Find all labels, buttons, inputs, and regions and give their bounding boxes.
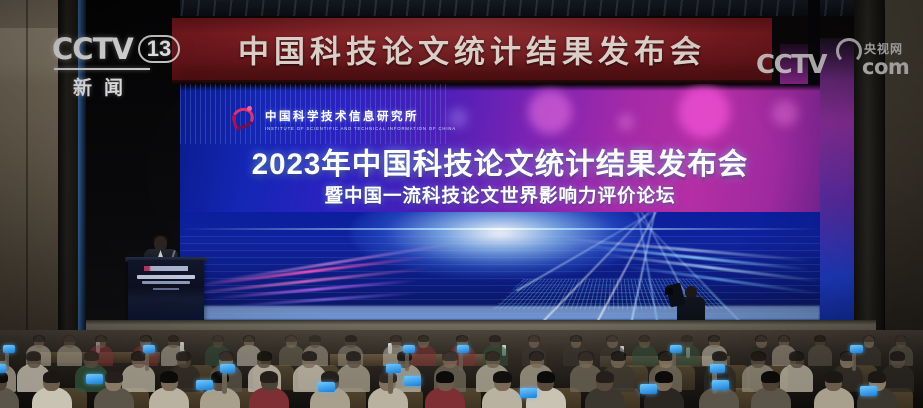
audience-hair — [390, 335, 402, 342]
audience-hair — [285, 335, 297, 342]
audience-shoulders — [279, 345, 304, 366]
stage-shadow — [86, 320, 876, 325]
cctv-wordmark: CCTV — [52, 32, 133, 66]
watermark-ring-icon — [836, 38, 862, 64]
smartphone-screen — [860, 386, 877, 396]
audience-hair — [814, 335, 826, 342]
led-bottom-glow — [180, 306, 820, 320]
audience-hair — [761, 371, 779, 383]
institute-logo-block: 中国科学技术信息研究所 INSTITUTE OF SCIENTIFIC AND … — [228, 106, 456, 132]
audience-hair — [712, 351, 727, 361]
smartphone-screen — [386, 364, 401, 373]
audience-hair — [655, 371, 673, 383]
audience-hair — [321, 371, 339, 383]
audience-hair — [176, 351, 191, 361]
channel-number: 13 — [138, 35, 180, 63]
smartphone-screen — [220, 364, 235, 373]
raised-arm — [459, 353, 463, 371]
smartphone-screen — [403, 345, 415, 352]
institute-name-en: INSTITUTE OF SCIENTIFIC AND TECHNICAL IN… — [265, 126, 456, 131]
audience-hair — [346, 351, 361, 361]
raised-arm — [222, 372, 227, 394]
audience-shoulders — [57, 345, 82, 366]
audience-hair — [212, 335, 224, 342]
bokeh-light — [528, 90, 572, 134]
podium-mini-subtitle — [142, 281, 190, 284]
led-tech-landscape — [180, 212, 820, 320]
raised-arm — [388, 372, 393, 394]
cctv13-channel-logo: CCTV 13 新闻 — [52, 32, 182, 88]
audience-hair — [345, 335, 357, 342]
podium-mini-date — [153, 288, 179, 290]
audience-hair — [755, 335, 767, 342]
audience-hair — [868, 371, 886, 383]
channel-name-cn: 新闻 — [54, 73, 154, 100]
audience-hair — [442, 351, 457, 361]
smartphone-screen — [196, 380, 213, 390]
audience-hair — [485, 351, 500, 361]
venue-banner-text: 中国科技论文统计结果发布会 — [172, 27, 772, 72]
smartphone-screen — [404, 376, 421, 386]
left-wall-panel — [0, 0, 58, 345]
audience-hair — [257, 351, 272, 361]
raised-arm — [405, 353, 409, 371]
ceiling-slats — [150, 0, 850, 16]
audience-hair — [105, 371, 123, 383]
audience-hair — [570, 335, 582, 342]
audience-hair — [43, 371, 61, 383]
wall-highlight — [0, 28, 58, 86]
wall-seam — [26, 0, 28, 345]
smartphone-screen — [318, 382, 335, 392]
audience-hair — [33, 335, 45, 342]
seated-audience — [0, 330, 923, 408]
bokeh-light — [678, 86, 730, 138]
event-subtitle: 暨中国一流科技论文世界影响力评价论坛 — [180, 182, 820, 208]
podium-mini-logo — [144, 266, 188, 271]
smartphone-screen — [670, 345, 682, 352]
audience-hair — [168, 335, 180, 342]
venue-banner: 中国科技论文统计结果发布会 — [172, 18, 772, 80]
smartphone-screen — [712, 380, 729, 390]
audience-shoulders — [337, 364, 370, 392]
raised-arm — [672, 353, 676, 371]
audience-hair — [639, 335, 651, 342]
audience-hair — [708, 335, 720, 342]
audience-hair — [243, 335, 255, 342]
audience-hair — [789, 351, 804, 361]
audience-hair — [260, 371, 278, 383]
smartphone-screen — [710, 364, 725, 373]
raised-arm — [145, 353, 149, 371]
raised-arm — [852, 353, 856, 371]
audience-hair — [84, 351, 99, 361]
smartphone-screen — [640, 384, 657, 394]
audience-hair — [681, 335, 693, 342]
cctv-com-watermark: CCTV 央视网 com — [756, 36, 906, 82]
audience-shoulders — [632, 345, 657, 366]
smartphone-screen — [457, 345, 469, 352]
audience-hair — [160, 371, 178, 383]
audience-hair — [493, 371, 511, 383]
audience-hair — [140, 335, 152, 342]
audience-hair — [890, 351, 905, 361]
audience-hair — [611, 351, 626, 361]
audience-shoulders — [780, 364, 813, 392]
institute-name-cn: 中国科学技术信息研究所 — [265, 108, 456, 124]
audience-hair — [309, 335, 321, 342]
broadcast-frame: 中国科技论文统计结果发布会 中国科学技术信息研究所 INSTITUTE OF S… — [0, 0, 923, 408]
audience-hair — [895, 335, 907, 342]
stage-led-screen: 中国科学技术信息研究所 INSTITUTE OF SCIENTIFIC AND … — [180, 84, 820, 320]
event-title: 2023年中国科技论文统计结果发布会 — [180, 141, 820, 183]
audience-hair — [436, 371, 454, 383]
podium-mini-title — [137, 275, 195, 279]
bokeh-light — [772, 100, 798, 126]
audience-hair — [456, 335, 468, 342]
audience-hair — [596, 371, 614, 383]
smartphone-screen — [850, 345, 862, 352]
bokeh-light — [618, 114, 634, 130]
audience-shoulders — [122, 364, 155, 392]
smartphone-screen — [3, 345, 15, 352]
smartphone-screen — [143, 345, 155, 352]
audience-hair — [528, 335, 540, 342]
audience-hair — [578, 351, 593, 361]
audience-hair — [63, 335, 75, 342]
podium-speaker — [128, 236, 204, 324]
audience-hair — [219, 351, 234, 361]
watermark-tld: com — [862, 55, 909, 79]
audience-hair — [26, 351, 41, 361]
audience-hair — [778, 335, 790, 342]
audience-hair — [606, 335, 618, 342]
audience-hair — [95, 335, 107, 342]
right-led-panel-outer — [820, 38, 854, 338]
audience-hair — [489, 335, 501, 342]
smartphone-screen — [0, 364, 6, 373]
audience-hair — [418, 335, 430, 342]
watermark-wordmark: CCTV — [756, 50, 826, 80]
audience-hair — [825, 371, 843, 383]
istic-swoosh-icon — [228, 106, 258, 132]
audience-shoulders — [808, 345, 833, 366]
audience-hair — [751, 351, 766, 361]
logo-underline — [54, 68, 150, 70]
audience-hair — [302, 351, 317, 361]
smartphone-screen — [520, 388, 537, 398]
smartphone-screen — [86, 374, 103, 384]
audience-hair — [537, 371, 555, 383]
audience-hair — [529, 351, 544, 361]
audience-hair — [863, 335, 875, 342]
